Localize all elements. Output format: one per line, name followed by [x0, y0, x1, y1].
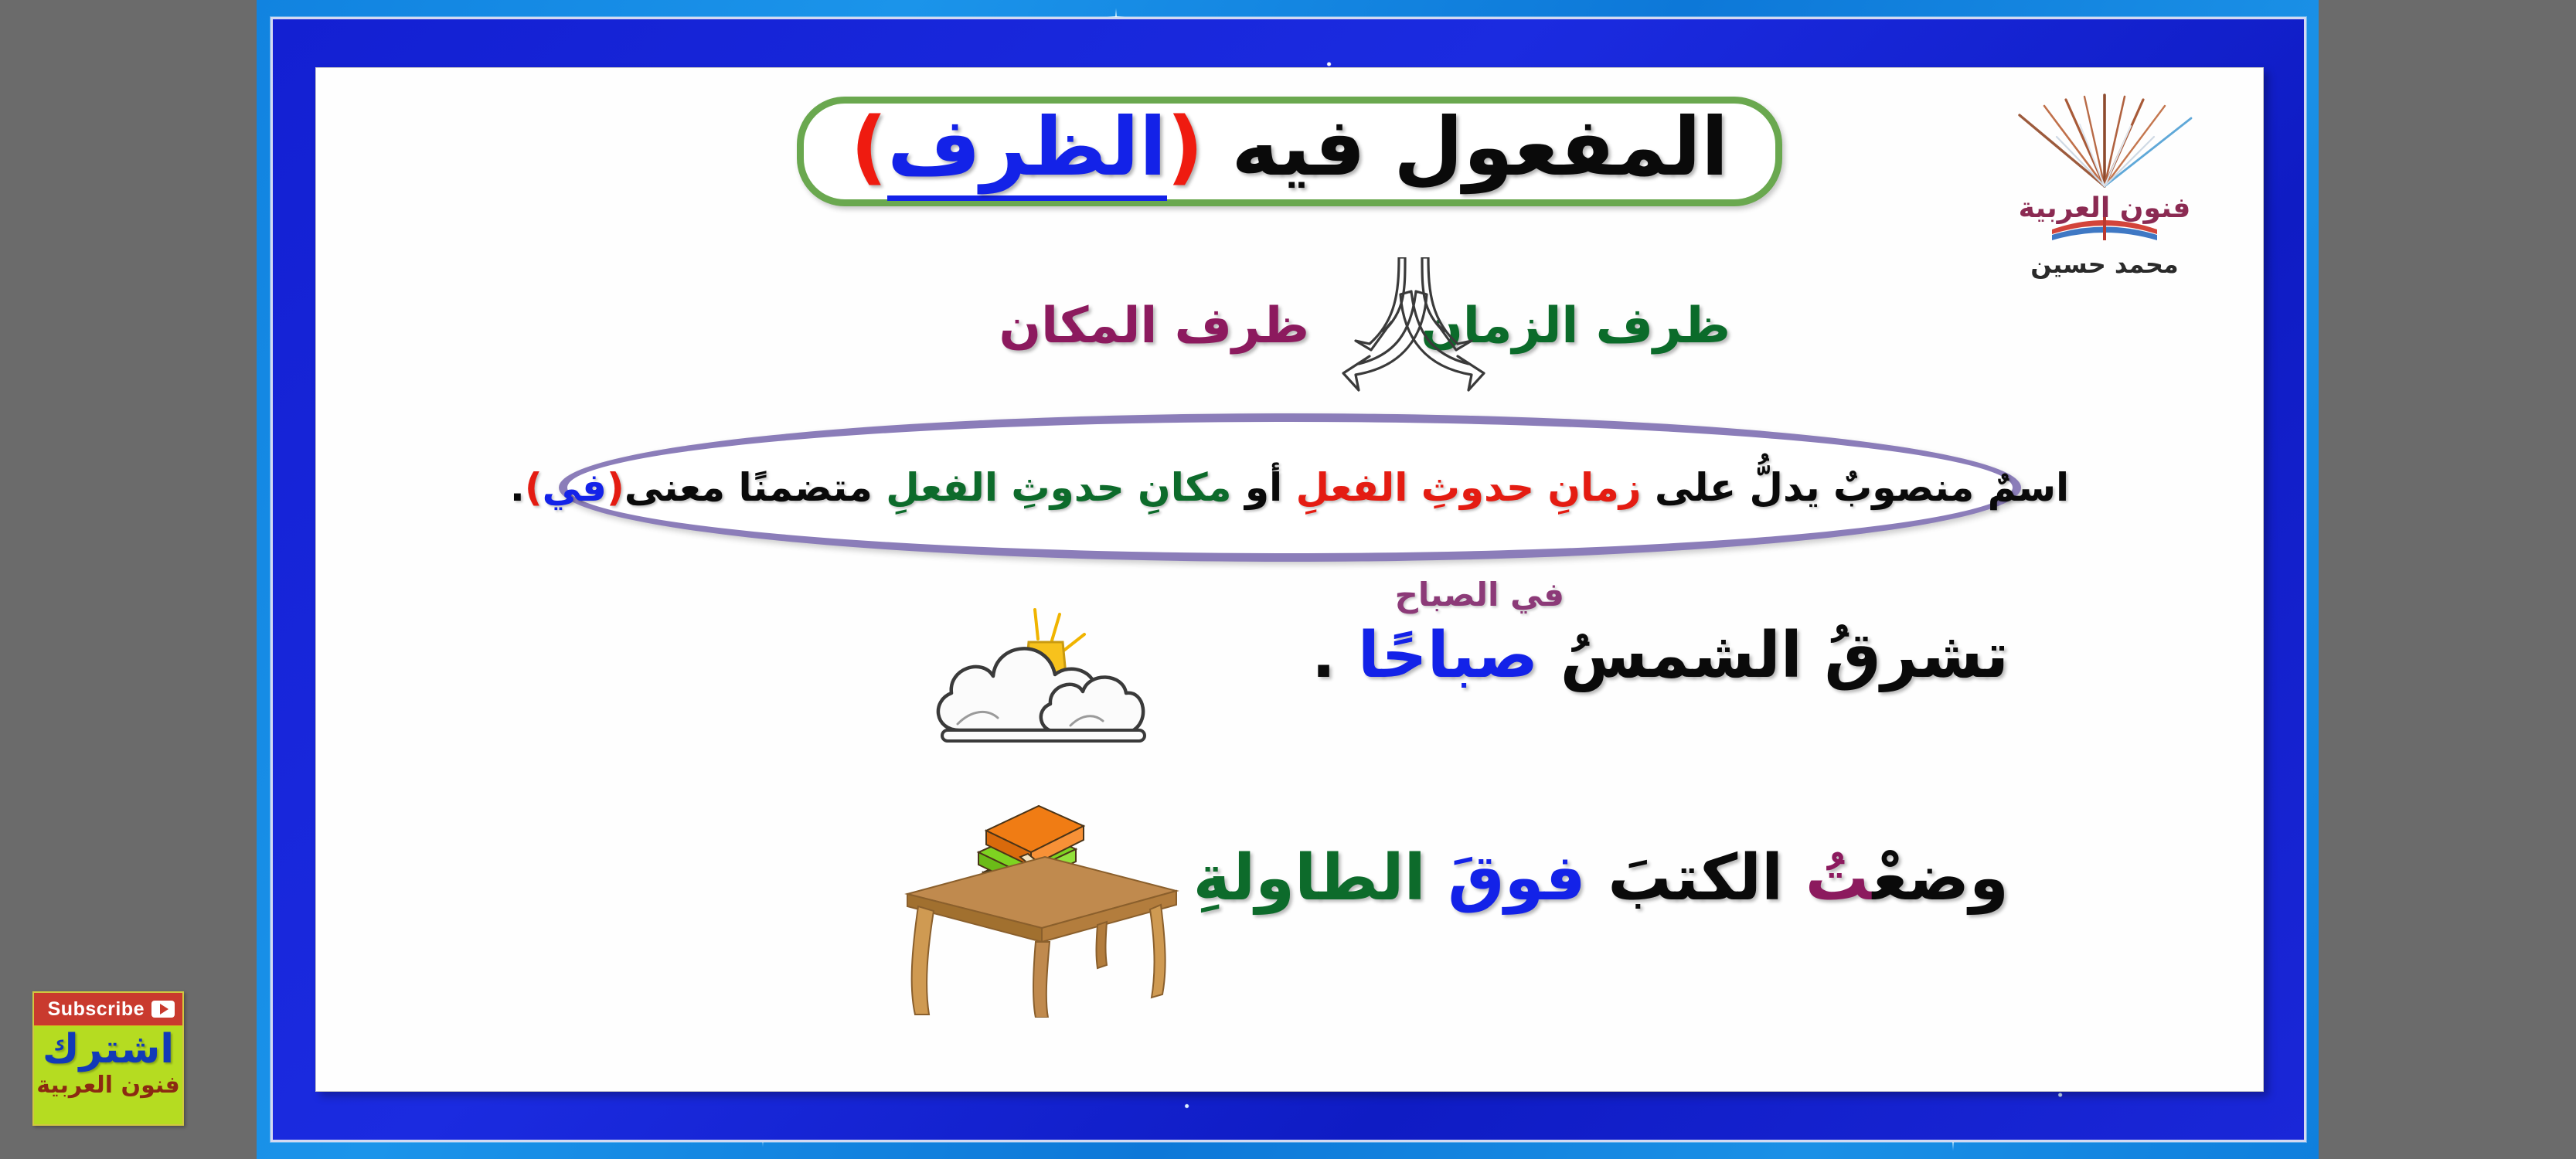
- branches-row: ظرف الزمان ظرف المكان: [315, 274, 2264, 390]
- example-2-object: الطاولةِ: [1193, 841, 1426, 915]
- branch-place-label: ظرف المكان: [999, 297, 1309, 355]
- books-on-table-icon: [884, 763, 1193, 1018]
- subscribe-badge[interactable]: Subscribe اشترك فنون العربية: [32, 991, 184, 1126]
- definition-part1: اسمٌ منصوبٌ يدلُّ على: [1655, 465, 2069, 510]
- example-2-adverb: فوقَ: [1448, 841, 1585, 915]
- title-highlight: الظرف: [887, 100, 1167, 201]
- example-2-lead-c: الكتبَ: [1608, 841, 1783, 915]
- slide-page: فنون العربية محمد حسين المفعول فيه (الظر…: [315, 67, 2264, 1092]
- subscribe-english-label: Subscribe: [48, 998, 145, 1021]
- definition-text: اسمٌ منصوبٌ يدلُّ على زمانِ حدوثِ الفعلِ…: [510, 465, 2069, 510]
- title-oval-box: المفعول فيه (الظرف): [797, 97, 1781, 206]
- definition-preposition: في: [543, 465, 607, 510]
- crossing-arrows-icon: [1325, 257, 1502, 400]
- example-2-sentence: وضعْتُ الكتبَ فوقَ الطاولةِ .: [1147, 841, 2009, 915]
- example-1-note: في الصباح: [1395, 576, 1564, 613]
- example-2-lead-a: وضعْ: [1873, 841, 2009, 915]
- definition-paren-open: (: [607, 465, 624, 510]
- definition-part2: زمانِ حدوثِ الفعلِ: [1296, 465, 1642, 510]
- definition-oval-box: اسمٌ منصوبٌ يدلُّ على زمانِ حدوثِ الفعلِ…: [559, 413, 2021, 562]
- title-area: المفعول فيه (الظرف): [315, 97, 2264, 206]
- title-main: المفعول فيه: [1231, 100, 1728, 194]
- page-title: المفعول فيه (الظرف): [850, 107, 1728, 187]
- subscribe-brand-label: فنون العربية: [34, 1074, 182, 1097]
- example-1-tail: .: [1312, 619, 1336, 692]
- inner-blue-border: فنون العربية محمد حسين المفعول فيه (الظر…: [271, 17, 2306, 1142]
- definition-part3: أو: [1245, 465, 1282, 510]
- definition-area: اسمٌ منصوبٌ يدلُّ على زمانِ حدوثِ الفعلِ…: [315, 413, 2264, 562]
- definition-paren-close: ): [525, 465, 543, 510]
- slide-canvas: فنون العربية محمد حسين المفعول فيه (الظر…: [257, 0, 2319, 1159]
- example-2-lead-b: تُ: [1805, 841, 1873, 915]
- title-paren-close: ): [850, 100, 887, 194]
- youtube-play-icon: [151, 1001, 175, 1018]
- definition-part4: مكانِ حدوثِ الفعلِ: [886, 465, 1231, 510]
- subscribe-arabic-label: اشترك: [34, 1029, 182, 1069]
- subscribe-youtube-bar[interactable]: Subscribe: [34, 993, 182, 1026]
- example-1-sentence: تشرقُ الشمسُ صباحًا .: [1312, 619, 2009, 692]
- definition-period: .: [510, 465, 525, 510]
- sun-behind-clouds-icon: [911, 594, 1166, 749]
- example-row-2: وضعْتُ الكتبَ فوقَ الطاولةِ .: [315, 809, 2264, 971]
- example-1-adverb: صباحًا: [1358, 619, 1538, 692]
- example-row-1: في الصباح تشرقُ الشمسُ صباحًا .: [315, 586, 2264, 749]
- definition-part5: متضمنًا معنى: [624, 465, 873, 510]
- example-1-lead: تشرقُ الشمسُ: [1560, 619, 2009, 692]
- title-paren-open: (: [1167, 100, 1204, 194]
